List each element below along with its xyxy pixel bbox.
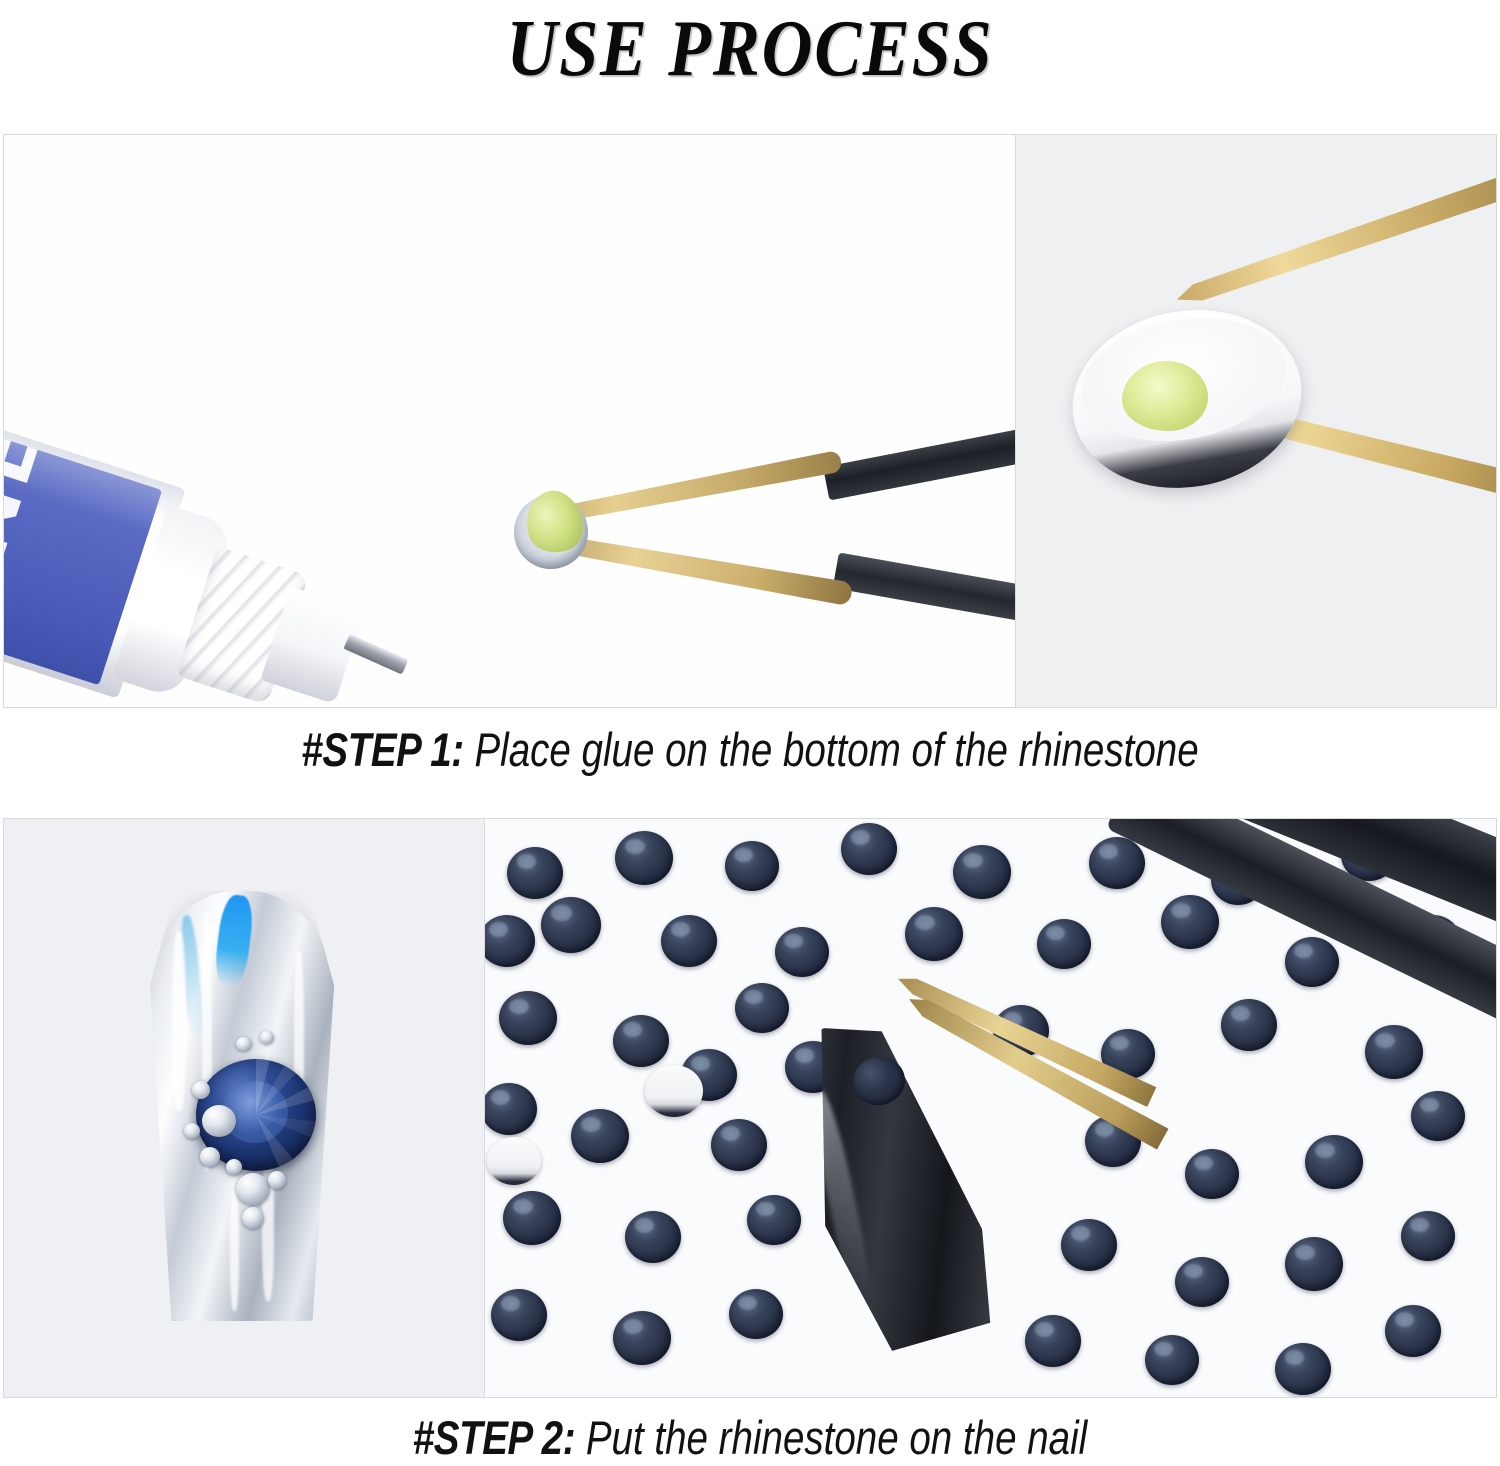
rhinestone — [503, 1191, 561, 1245]
step1-image-row: RHINESTONE GLUE — [3, 134, 1497, 708]
step2-caption: #STEP 2: Put the rhinestone on the nail — [135, 1414, 1365, 1461]
rhinestone — [491, 1289, 547, 1341]
rhinestone — [499, 991, 557, 1045]
rhinestone — [1025, 1315, 1081, 1367]
tweezers-upper-tip — [1173, 159, 1496, 312]
rhinestone-flat-back — [487, 1137, 541, 1185]
rhinestone — [1285, 1237, 1343, 1291]
glue-bottle: RHINESTONE GLUE — [4, 393, 342, 707]
rhinestone — [613, 1311, 671, 1365]
rhinestone — [1145, 1335, 1199, 1385]
rhinestone — [1161, 895, 1219, 949]
photo-glue-drop-closeup — [1015, 135, 1496, 707]
rhinestone — [1305, 1135, 1363, 1189]
glue-drop — [1122, 361, 1208, 431]
tweezers-lower-handle — [833, 552, 1016, 629]
nail-chrome-streak — [172, 931, 186, 1111]
glue-bottle-needle-tip — [343, 634, 408, 675]
step2-image-row — [3, 818, 1497, 1398]
rhinestone — [725, 841, 779, 891]
silver-bead — [236, 1037, 252, 1051]
page-title: USE PROCESS — [90, 0, 1410, 120]
rhinestone — [735, 983, 789, 1033]
decorated-nail — [144, 891, 340, 1321]
silver-bead — [236, 1173, 270, 1205]
rhinestone — [775, 927, 829, 977]
nail-chrome-streak — [230, 1191, 239, 1311]
rhinestone — [625, 1211, 681, 1263]
rhinestone — [1037, 919, 1091, 969]
silver-bead — [268, 1171, 286, 1189]
step2-label: #STEP 2: — [413, 1411, 575, 1464]
rhinestone — [507, 847, 563, 899]
tweezers-upper-handle — [823, 419, 1015, 500]
silver-bead — [242, 1207, 264, 1229]
step1-label: #STEP 1: — [301, 723, 463, 776]
photo-finished-nail — [4, 819, 484, 1397]
silver-bead — [192, 1081, 210, 1099]
rhinestone — [1385, 1305, 1441, 1357]
rhinestone — [953, 845, 1011, 899]
rhinestone — [747, 1195, 801, 1245]
rhinestone — [1061, 1219, 1117, 1271]
rhinestone — [1401, 1211, 1455, 1261]
silver-bead — [260, 1031, 274, 1044]
rhinestone — [1411, 1091, 1465, 1141]
silver-bead — [202, 1105, 236, 1137]
rhinestone — [1285, 937, 1339, 987]
rhinestone — [1185, 1149, 1239, 1199]
rhinestone — [484, 915, 535, 967]
photo-placing-rhinestone — [484, 819, 1496, 1397]
rhinestone — [571, 1109, 629, 1163]
rhinestone — [1221, 999, 1277, 1051]
rhinestone — [1365, 1025, 1423, 1079]
rhinestone-flat-back — [645, 1065, 703, 1117]
tweezers-gold — [504, 435, 1015, 645]
silver-bead — [200, 1147, 220, 1167]
rhinestone — [1175, 1257, 1229, 1307]
silver-bead — [226, 1159, 242, 1175]
step2-text: Put the rhinestone on the nail — [575, 1411, 1087, 1464]
step1-caption: #STEP 1: Place glue on the bottom of the… — [135, 726, 1365, 773]
rhinestone — [484, 1083, 537, 1135]
rhinestone — [905, 907, 963, 961]
rhinestone — [729, 1289, 783, 1339]
rhinestone — [711, 1119, 767, 1171]
silver-bead — [184, 1123, 200, 1139]
nail-blue-accent — [213, 893, 256, 988]
step1-text: Place glue on the bottom of the rhinesto… — [464, 723, 1199, 776]
rhinestone — [661, 915, 717, 967]
photo-glue-on-rhinestone: RHINESTONE GLUE — [4, 135, 1015, 707]
rhinestone — [1275, 1343, 1331, 1395]
rhinestone — [615, 831, 673, 885]
rhinestone — [541, 897, 601, 953]
rhinestone — [841, 823, 897, 875]
rhinestone — [1089, 837, 1145, 889]
rhinestone — [613, 1015, 669, 1067]
